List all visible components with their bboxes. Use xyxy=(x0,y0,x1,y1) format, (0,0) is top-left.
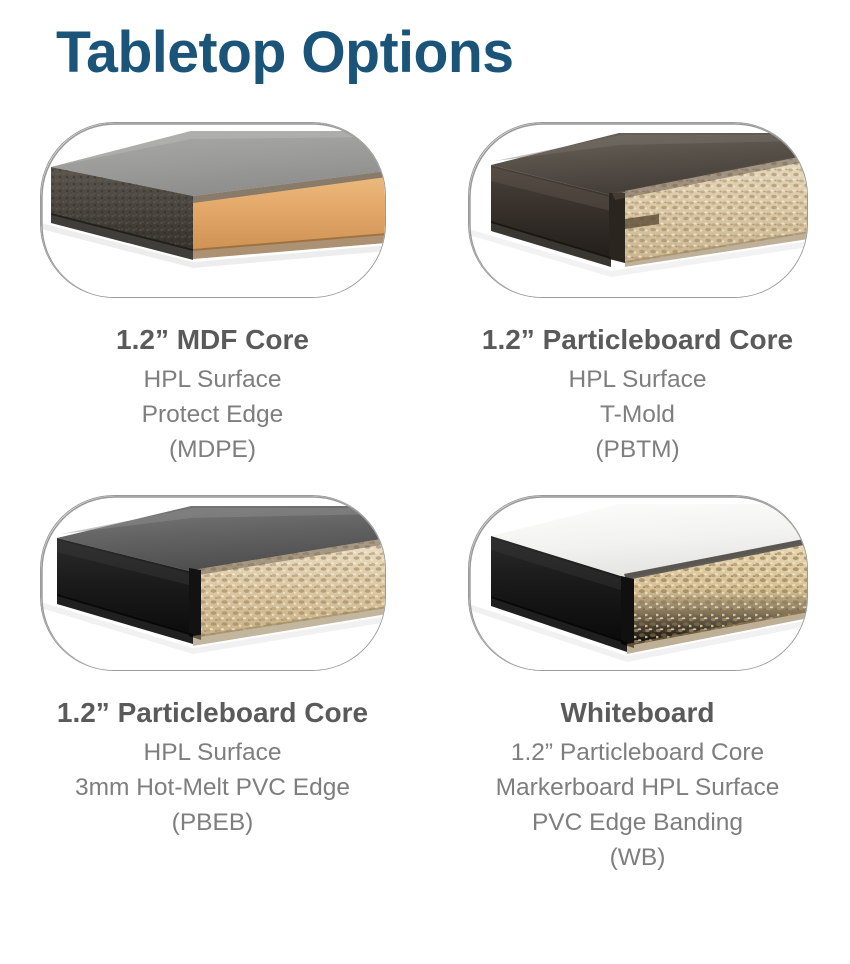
option-detail-lines: 1.2” Particleboard Core Markerboard HPL … xyxy=(425,735,850,875)
option-detail-line: Protect Edge xyxy=(0,397,425,432)
option-card-wb[interactable]: Whiteboard 1.2” Particleboard Core Marke… xyxy=(425,495,850,875)
caption-pbeb: 1.2” Particleboard Core HPL Surface 3mm … xyxy=(0,671,425,840)
tabletop-corner-particleboard-core-t-mold-icon xyxy=(469,123,807,297)
tabletop-corner-whiteboard-markerboard-surface-icon xyxy=(469,496,807,670)
options-row-1: 1.2” MDF Core HPL Surface Protect Edge (… xyxy=(0,122,850,467)
option-card-pbeb[interactable]: 1.2” Particleboard Core HPL Surface 3mm … xyxy=(0,495,425,875)
option-title: 1.2” Particleboard Core xyxy=(0,693,425,733)
option-detail-line: HPL Surface xyxy=(0,362,425,397)
tabletop-photo-pbtm xyxy=(468,122,808,298)
option-detail-lines: HPL Surface 3mm Hot-Melt PVC Edge (PBEB) xyxy=(0,735,425,840)
option-code: (PBTM) xyxy=(425,432,850,467)
option-card-pbtm[interactable]: 1.2” Particleboard Core HPL Surface T-Mo… xyxy=(425,122,850,467)
caption-pbtm: 1.2” Particleboard Core HPL Surface T-Mo… xyxy=(425,298,850,467)
option-title: Whiteboard xyxy=(425,693,850,733)
option-card-mdpe[interactable]: 1.2” MDF Core HPL Surface Protect Edge (… xyxy=(0,122,425,467)
option-detail-line: HPL Surface xyxy=(0,735,425,770)
caption-mdpe: 1.2” MDF Core HPL Surface Protect Edge (… xyxy=(0,298,425,467)
option-detail-line: Markerboard HPL Surface xyxy=(425,770,850,805)
option-detail-line: HPL Surface xyxy=(425,362,850,397)
option-code: (PBEB) xyxy=(0,805,425,840)
tabletop-corner-particleboard-core-pvc-edge-icon xyxy=(41,496,385,670)
option-code: (WB) xyxy=(425,840,850,875)
option-detail-line: T-Mold xyxy=(425,397,850,432)
option-detail-lines: HPL Surface Protect Edge (MDPE) xyxy=(0,362,425,467)
tabletop-photo-mdpe xyxy=(40,122,386,298)
caption-wb: Whiteboard 1.2” Particleboard Core Marke… xyxy=(425,671,850,875)
option-detail-line: 3mm Hot-Melt PVC Edge xyxy=(0,770,425,805)
options-grid: 1.2” MDF Core HPL Surface Protect Edge (… xyxy=(0,122,850,875)
option-detail-line: PVC Edge Banding xyxy=(425,805,850,840)
option-detail-lines: HPL Surface T-Mold (PBTM) xyxy=(425,362,850,467)
option-title: 1.2” MDF Core xyxy=(0,320,425,360)
tabletop-photo-wb xyxy=(468,495,808,671)
options-row-2: 1.2” Particleboard Core HPL Surface 3mm … xyxy=(0,495,850,875)
option-detail-line: 1.2” Particleboard Core xyxy=(425,735,850,770)
option-title: 1.2” Particleboard Core xyxy=(425,320,850,360)
tabletop-corner-mdf-core-protect-edge-icon xyxy=(41,123,385,297)
tabletop-options-page: Tabletop Options xyxy=(0,0,850,964)
tabletop-photo-pbeb xyxy=(40,495,386,671)
option-code: (MDPE) xyxy=(0,432,425,467)
page-title: Tabletop Options xyxy=(56,18,514,88)
